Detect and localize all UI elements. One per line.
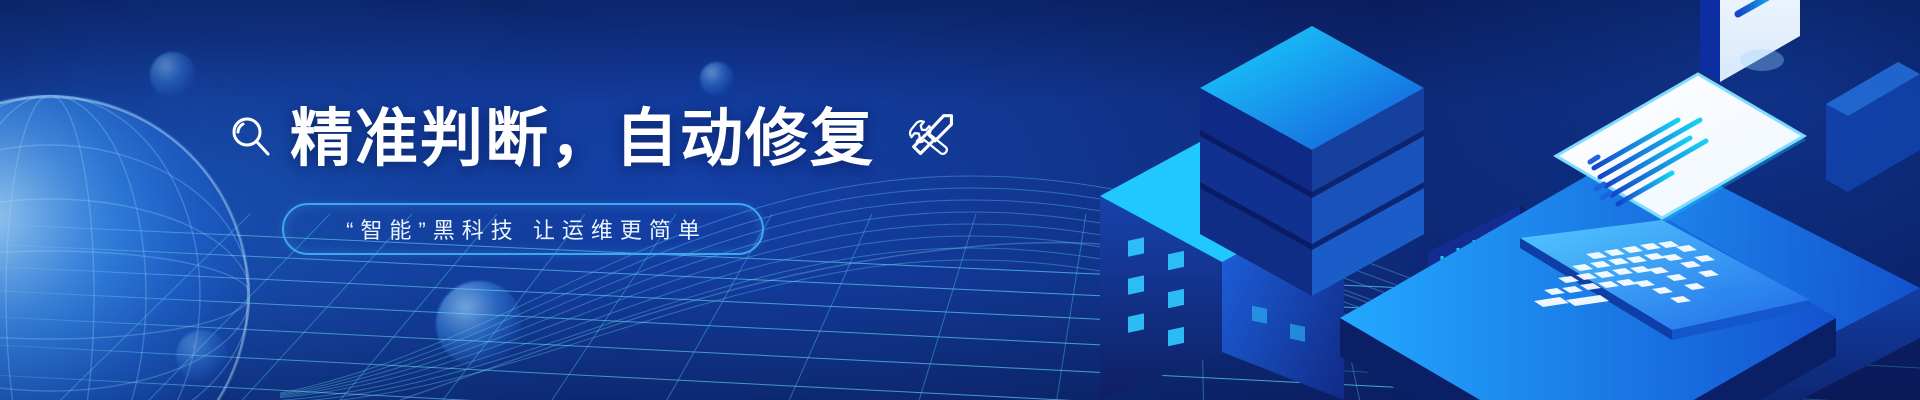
search-icon	[228, 114, 274, 165]
banner-copy: 精准判断，自动修复 “智能”黑科技 让运维更简单	[228, 96, 1088, 255]
accent-block	[1826, 62, 1920, 192]
promo-banner: 精准判断，自动修复 “智能”黑科技 让运维更简单	[0, 0, 1920, 400]
wrench-screwdriver-icon	[903, 106, 965, 173]
subtitle-pill: “智能”黑科技 让运维更简单	[282, 203, 764, 255]
document-card	[1700, 0, 1800, 82]
headline-title: 精准判断，自动修复	[290, 108, 875, 171]
headline-row: 精准判断，自动修复	[228, 96, 1088, 182]
bokeh-sphere	[150, 52, 196, 98]
isometric-illustration	[1000, 0, 1920, 400]
subtitle-text: “智能”黑科技 让运维更简单	[339, 213, 707, 245]
